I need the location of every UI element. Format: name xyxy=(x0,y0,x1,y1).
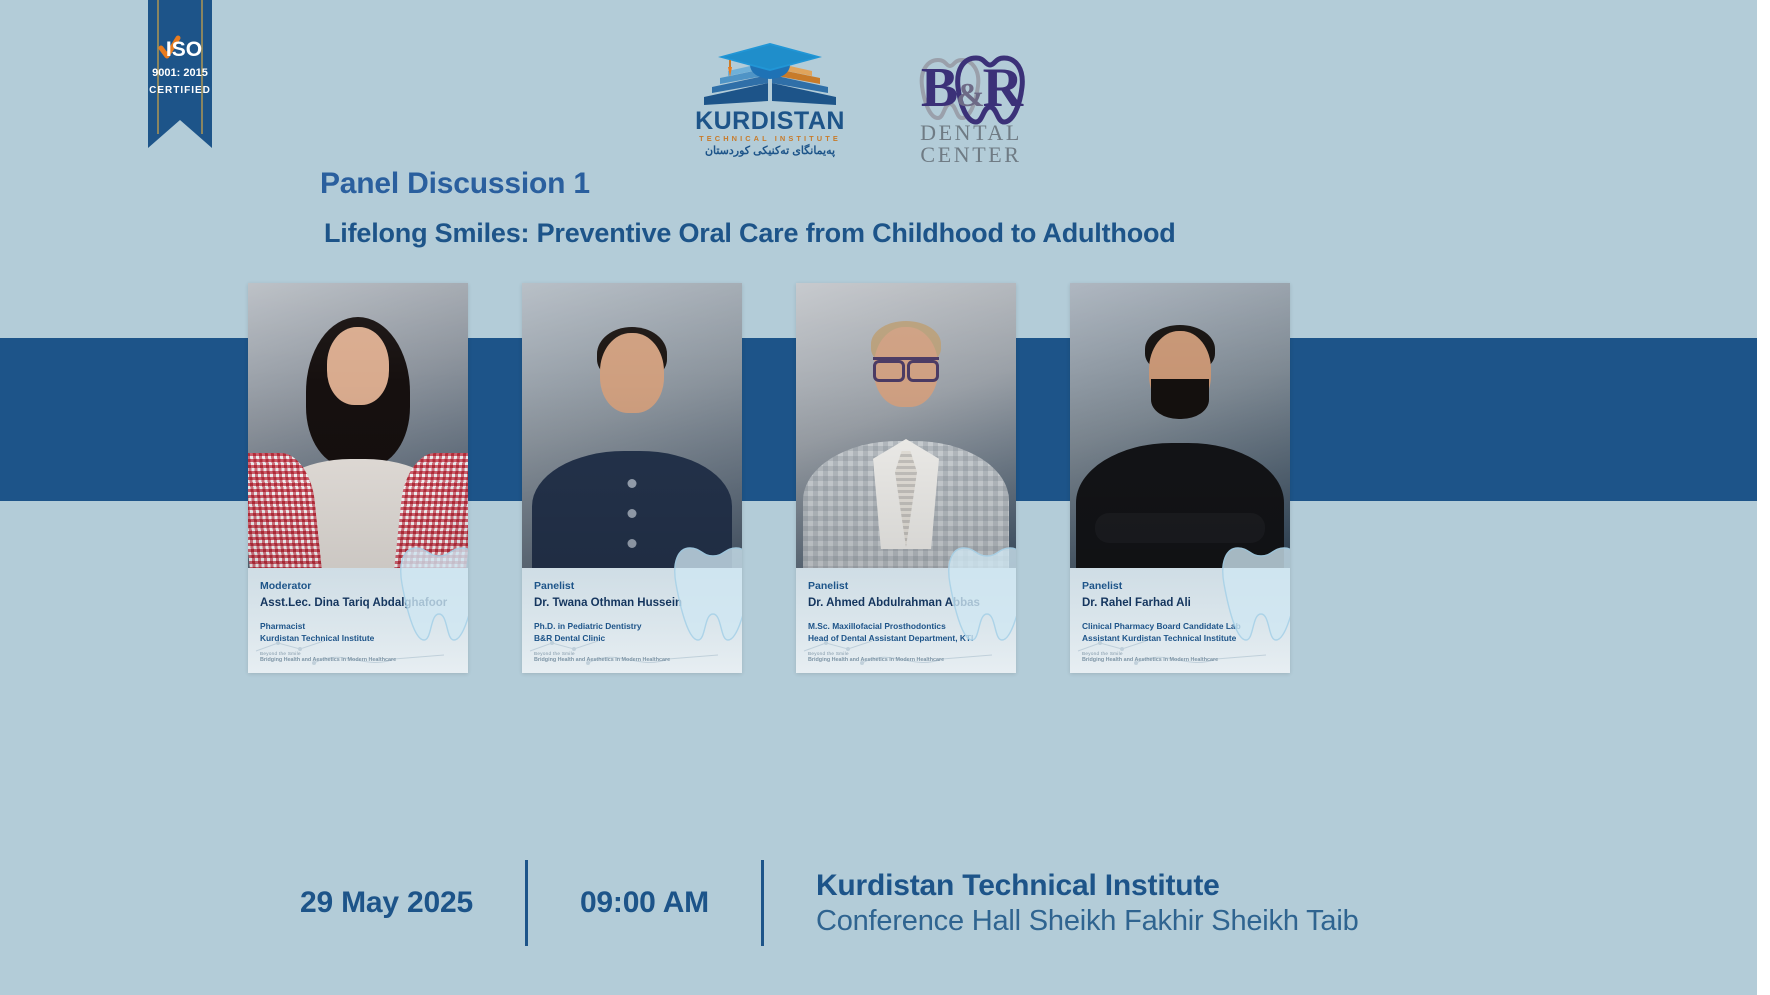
speaker-meta-line2: Kurdistan Technical Institute xyxy=(260,632,456,644)
panel-subtitle: Lifelong Smiles: Preventive Oral Care fr… xyxy=(324,217,1176,251)
speaker-photo xyxy=(796,283,1016,568)
speaker-card-tagline: Beyond the Smile Bridging Health and Aes… xyxy=(534,651,732,664)
event-venue: Kurdistan Technical Institute Conference… xyxy=(816,868,1359,939)
iso-line1: ISO xyxy=(166,38,202,61)
speaker-meta-line1: Clinical Pharmacy Board Candidate Lab xyxy=(1082,620,1278,632)
br-dental-center-logo: B&R DENTAL CENTER xyxy=(876,46,1066,158)
event-footer: 29 May 2025 09:00 AM Kurdistan Technical… xyxy=(300,860,1359,946)
speaker-role: Moderator xyxy=(260,580,456,593)
kti-logo-kurdish: پەیمانگای تەکنیکی کوردستان xyxy=(690,146,850,157)
speaker-role: Panelist xyxy=(1082,580,1278,593)
venue-hall: Conference Hall Sheikh Fakhir Sheikh Tai… xyxy=(816,904,1359,939)
speaker-card-tagline: Beyond the Smile Bridging Health and Aes… xyxy=(808,651,1006,664)
speaker-photo xyxy=(1070,283,1290,568)
speaker-card: Panelist Dr. Rahel Farhad Ali Clinical P… xyxy=(1070,283,1290,673)
kti-logo-name: KURDISTAN xyxy=(690,109,850,134)
event-date: 29 May 2025 xyxy=(300,886,473,920)
speaker-card-tagline: Beyond the Smile Bridging Health and Aes… xyxy=(260,651,458,664)
iso-line2: 9001: 2015 xyxy=(152,67,208,79)
speaker-meta-line1: Ph.D. in Pediatric Dentistry xyxy=(534,620,730,632)
speaker-role: Panelist xyxy=(534,580,730,593)
speaker-info: Panelist Dr. Twana Othman Hussein Ph.D. … xyxy=(522,568,742,673)
tagline-bold: Bridging Health and Aesthetics in Modern… xyxy=(260,657,458,664)
kti-logo-subtitle: TECHNICAL INSTITUTE xyxy=(690,135,850,142)
speaker-name: Dr. Twana Othman Hussein xyxy=(534,596,730,610)
speaker-name: Asst.Lec. Dina Tariq Abdalghafoor xyxy=(260,596,456,610)
kti-logo: KTI KURDISTAN TECHNICAL INSTITUTE پەیمان… xyxy=(690,43,850,161)
speaker-meta: Clinical Pharmacy Board Candidate Lab As… xyxy=(1082,620,1278,644)
speaker-name: Dr. Rahel Farhad Ali xyxy=(1082,596,1278,610)
footer-divider-1 xyxy=(525,860,528,946)
footer-divider-2 xyxy=(761,860,764,946)
graduation-cap-book-icon: KTI xyxy=(690,43,850,109)
venue-name: Kurdistan Technical Institute xyxy=(816,868,1359,904)
speaker-photo xyxy=(248,283,468,568)
speaker-meta-line2: B&R Dental Clinic xyxy=(534,632,730,644)
speaker-meta: M.Sc. Maxillofacial Prosthodontics Head … xyxy=(808,620,1004,644)
tagline-bold: Bridging Health and Aesthetics in Modern… xyxy=(808,657,1006,664)
title-block: Panel Discussion 1 Lifelong Smiles: Prev… xyxy=(320,165,1176,250)
tagline-bold: Bridging Health and Aesthetics in Modern… xyxy=(534,657,732,664)
speaker-meta-line2: Head of Dental Assistant Department, KTI xyxy=(808,632,1004,644)
speaker-info: Moderator Asst.Lec. Dina Tariq Abdalghaf… xyxy=(248,568,468,673)
panel-title: Panel Discussion 1 xyxy=(320,165,1176,203)
speaker-card: Panelist Dr. Twana Othman Hussein Ph.D. … xyxy=(522,283,742,673)
speaker-card: Panelist Dr. Ahmed Abdulrahman Abbas M.S… xyxy=(796,283,1016,673)
br-logo-name: DENTAL CENTER xyxy=(876,122,1066,166)
speaker-card-list: Moderator Asst.Lec. Dina Tariq Abdalghaf… xyxy=(248,283,1508,673)
speaker-meta-line2: Assistant Kurdistan Technical Institute xyxy=(1082,632,1278,644)
iso-certification-badge: ISO 9001: 2015 CERTIFIED xyxy=(148,0,212,148)
event-time: 09:00 AM xyxy=(580,886,709,920)
logo-row: KTI KURDISTAN TECHNICAL INSTITUTE پەیمان… xyxy=(690,42,1090,162)
event-poster: ISO 9001: 2015 CERTIFIED KTI xyxy=(0,0,1757,995)
speaker-name: Dr. Ahmed Abdulrahman Abbas xyxy=(808,596,1004,610)
speaker-info: Panelist Dr. Rahel Farhad Ali Clinical P… xyxy=(1070,568,1290,673)
br-logo-mark: B&R xyxy=(876,60,1066,116)
speaker-meta-line1: M.Sc. Maxillofacial Prosthodontics xyxy=(808,620,1004,632)
speaker-meta: Ph.D. in Pediatric Dentistry B&R Dental … xyxy=(534,620,730,644)
speaker-role: Panelist xyxy=(808,580,1004,593)
iso-line3: CERTIFIED xyxy=(149,85,211,96)
speaker-photo xyxy=(522,283,742,568)
speaker-meta: Pharmacist Kurdistan Technical Institute xyxy=(260,620,456,644)
speaker-card-tagline: Beyond the Smile Bridging Health and Aes… xyxy=(1082,651,1280,664)
tagline-bold: Bridging Health and Aesthetics in Modern… xyxy=(1082,657,1280,664)
speaker-card: Moderator Asst.Lec. Dina Tariq Abdalghaf… xyxy=(248,283,468,673)
speaker-meta-line1: Pharmacist xyxy=(260,620,456,632)
speaker-info: Panelist Dr. Ahmed Abdulrahman Abbas M.S… xyxy=(796,568,1016,673)
